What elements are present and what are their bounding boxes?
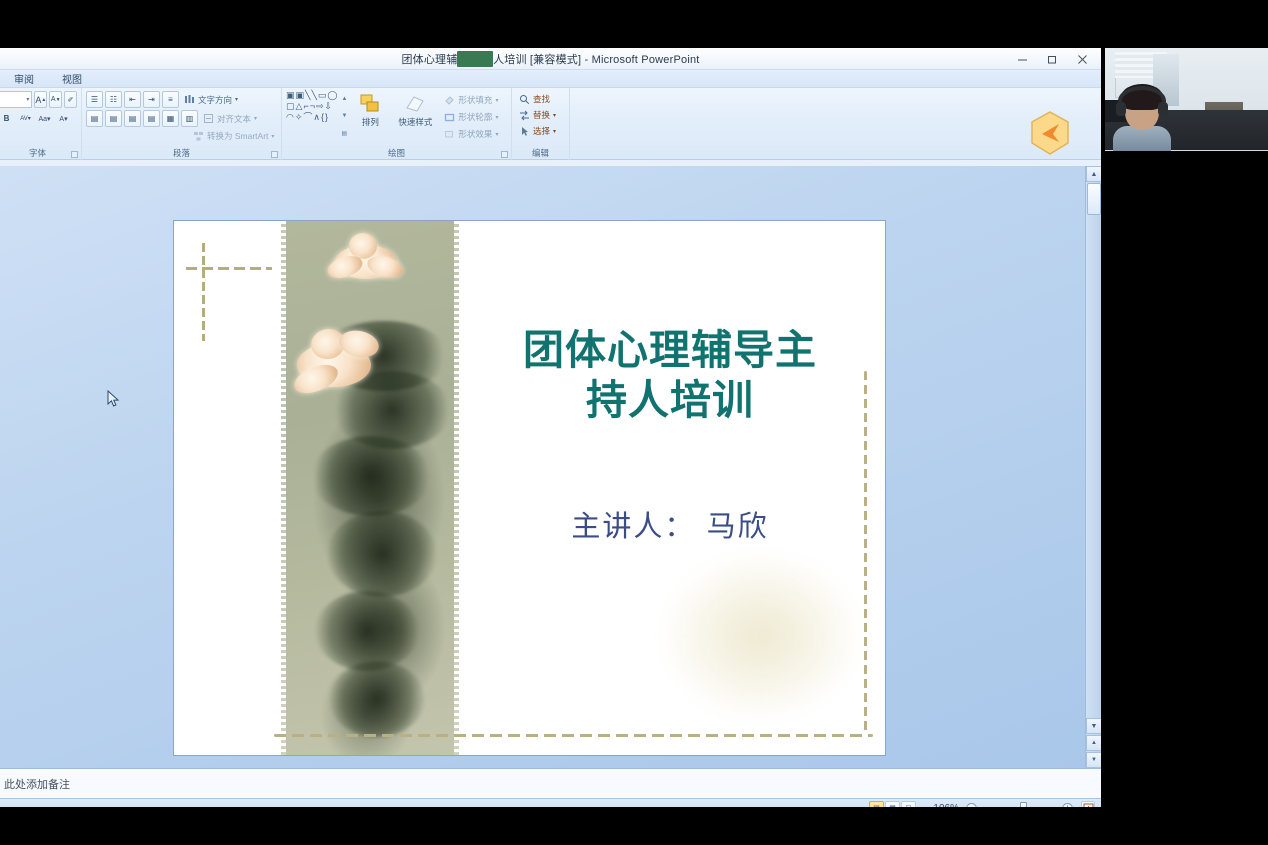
scroll-thumb[interactable]: [1087, 183, 1101, 215]
scroll-down-arrow[interactable]: ▼: [1086, 718, 1101, 734]
text-direction-button[interactable]: 文字方向▾: [181, 92, 241, 108]
background-watermark: [661, 551, 861, 721]
screen-root: 团体心理辅导主持人培训 [兼容模式] - Microsoft PowerPoin…: [0, 0, 1268, 845]
previous-slide-button[interactable]: ▲: [1086, 735, 1101, 751]
ribbon-group-editing: 查找 替换▾ 选择▾ 编辑: [512, 88, 570, 160]
shape-fill-button[interactable]: 形状填充▾: [441, 92, 501, 108]
webcam-headphone-right: [1158, 102, 1168, 116]
justify-button[interactable]: ▤: [143, 110, 160, 127]
arrange-icon: [359, 93, 381, 115]
find-icon: [519, 94, 530, 105]
shape-elbow2-icon[interactable]: ¬: [310, 102, 315, 111]
shape-outline-button[interactable]: 形状轮廓▾: [441, 109, 501, 125]
shape-outline-icon: [444, 112, 455, 123]
decoration-horizontal-border: [274, 734, 873, 737]
letterbox-bottom: [0, 807, 1268, 845]
mouse-cursor: [107, 390, 121, 408]
increase-font-size-button[interactable]: A▲: [34, 91, 47, 108]
notes-placeholder: 此处添加备注: [4, 779, 70, 791]
slide-title[interactable]: 团体心理辅导主 持人培训: [474, 325, 866, 425]
minimize-button[interactable]: [1007, 49, 1037, 69]
scroll-up-arrow[interactable]: ▲: [1086, 166, 1101, 182]
vertical-scrollbar[interactable]: ▲ ▼ ▲ ▼: [1085, 166, 1101, 768]
shape-arrow-right-icon[interactable]: ⇨: [316, 102, 324, 111]
slide-editing-canvas[interactable]: 团体心理辅导主 持人培训 主讲人： 马欣: [0, 166, 1101, 768]
convert-to-smartart-label: 转换为 SmartArt: [207, 130, 268, 142]
shape-brace-left-icon[interactable]: {: [321, 113, 324, 122]
align-left-button[interactable]: ▤: [86, 110, 103, 127]
next-slide-button[interactable]: ▼: [1086, 752, 1101, 768]
shape-cloud-icon[interactable]: ◠: [286, 113, 294, 122]
distribute-button[interactable]: ▦: [162, 110, 179, 127]
bold-button[interactable]: B: [0, 110, 15, 127]
decoration-vertical-border: [864, 371, 867, 733]
ribbon-group-drawing-label: 绘图: [282, 147, 511, 159]
ribbon-group-paragraph-label: 段落: [82, 147, 281, 159]
window-controls: [1007, 48, 1097, 70]
shape-brace-right-icon[interactable]: }: [325, 113, 328, 122]
powerpoint-window: 团体心理辅导主持人培训 [兼容模式] - Microsoft PowerPoin…: [0, 48, 1101, 807]
slide-subtitle[interactable]: 主讲人： 马欣: [474, 503, 866, 545]
right-side-black-area: [1101, 177, 1268, 807]
ribbon-tab-bar: 审阅 视图: [0, 70, 1101, 88]
ribbon-group-editing-label: 编辑: [512, 147, 569, 159]
find-button[interactable]: 查找: [516, 91, 565, 107]
replace-icon: [519, 110, 530, 121]
webcam-letterbox-bottom: [1101, 151, 1268, 177]
bullets-button[interactable]: ☰: [86, 91, 103, 108]
shape-rect-icon[interactable]: ▭: [318, 91, 327, 100]
change-case-button[interactable]: Aa▾: [36, 110, 53, 127]
slide-title-line1: 团体心理辅导主: [474, 325, 866, 375]
shape-arrow-icon[interactable]: ╲: [311, 91, 316, 100]
columns-button[interactable]: ▥: [181, 110, 198, 127]
shape-curve-icon[interactable]: ⌒: [303, 113, 312, 122]
shape-oval-icon[interactable]: ◯: [327, 91, 337, 100]
shapes-scroll-up[interactable]: ▲: [341, 96, 347, 102]
text-direction-icon: [184, 94, 195, 105]
shape-textbox2-icon[interactable]: ▣: [296, 91, 305, 100]
webcam-person: [1113, 86, 1171, 154]
webcam-letterbox-left: [1101, 48, 1105, 177]
arrange-label: 排列: [362, 116, 379, 128]
letterbox-top: [0, 0, 1268, 48]
shape-effects-icon: [444, 129, 455, 140]
ribbon-group-paragraph: ☰ ☷ ⇤ ⇥ ≡ 文字方向▾ ▤ ▤ ▤ ▤: [82, 88, 282, 160]
font-dialog-launcher[interactable]: [71, 151, 78, 158]
shape-effects-button[interactable]: 形状效果▾: [441, 126, 501, 142]
shape-line-icon[interactable]: ╲: [305, 91, 310, 100]
decoration-horizontal-stroke-top-left: [186, 267, 272, 270]
close-button[interactable]: [1067, 49, 1097, 69]
select-button[interactable]: 选择▾: [516, 123, 565, 139]
select-label: 选择: [533, 125, 550, 137]
drawing-dialog-launcher[interactable]: [501, 151, 508, 158]
shape-fill-icon: [444, 95, 455, 106]
tab-review[interactable]: 审阅: [8, 70, 40, 87]
quick-styles-icon: [404, 93, 426, 115]
text-direction-label: 文字方向: [198, 94, 232, 106]
title-prefix: 团体心理辅: [401, 54, 457, 66]
clear-formatting-button[interactable]: ✐: [64, 91, 77, 108]
align-right-button[interactable]: ▤: [124, 110, 141, 127]
increase-indent-button[interactable]: ⇥: [143, 91, 160, 108]
title-suffix: 人培训 [兼容模式] - Microsoft PowerPoint: [493, 54, 699, 66]
find-label: 查找: [533, 93, 550, 105]
ribbon-group-font: ▾ A▲ A▼ ✐ B AV▾ Aa▾ A▾ 字体: [0, 88, 82, 160]
smartart-icon: [193, 131, 204, 142]
annotation-tool-badge[interactable]: [1029, 110, 1071, 156]
tab-view[interactable]: 视图: [56, 70, 88, 87]
character-spacing-button[interactable]: AV▾: [17, 110, 34, 127]
font-color-button[interactable]: A▾: [55, 110, 72, 127]
title-bar: 团体心理辅导主持人培训 [兼容模式] - Microsoft PowerPoin…: [0, 48, 1101, 70]
align-text-icon: [203, 113, 214, 124]
arrange-button[interactable]: 排列: [351, 91, 389, 135]
decrease-font-size-button[interactable]: A▼: [49, 91, 62, 108]
shapes-more[interactable]: ▤: [341, 130, 347, 137]
shapes-scroll-down[interactable]: ▼: [341, 113, 347, 119]
align-center-button[interactable]: ▤: [105, 110, 122, 127]
ribbon: ▾ A▲ A▼ ✐ B AV▾ Aa▾ A▾ 字体 ☰ ☷: [0, 88, 1101, 160]
paragraph-dialog-launcher[interactable]: [271, 151, 278, 158]
quick-styles-label: 快速样式: [398, 116, 432, 128]
shape-square-icon[interactable]: ▢: [286, 102, 295, 111]
webcam-video-feed[interactable]: [1101, 48, 1268, 177]
shape-star-icon[interactable]: ✧: [295, 113, 303, 122]
numbering-button[interactable]: ☷: [105, 91, 122, 108]
replace-label: 替换: [533, 109, 550, 121]
status-bar: ▤ ▦ ▽ 106% − +: [0, 798, 1101, 807]
shape-elbow-icon[interactable]: ⌐: [303, 102, 308, 111]
slide-title-line2: 持人培训: [474, 375, 866, 425]
ribbon-group-font-label: 字体: [0, 147, 81, 159]
convert-to-smartart-button[interactable]: 转换为 SmartArt▾: [190, 128, 277, 144]
webcam-headphone-left: [1116, 102, 1126, 116]
restore-button[interactable]: [1037, 49, 1067, 69]
select-icon: [519, 126, 530, 137]
align-text-label: 对齐文本: [217, 113, 251, 125]
shape-chevron-icon[interactable]: ∧: [313, 113, 320, 122]
lotus-ink-painting: [281, 221, 459, 756]
decrease-indent-button[interactable]: ⇤: [124, 91, 141, 108]
shape-fill-label: 形状填充: [458, 94, 492, 106]
line-spacing-button[interactable]: ≡: [162, 91, 179, 108]
shape-triangle-icon[interactable]: △: [296, 102, 303, 111]
quick-styles-button[interactable]: 快速样式: [393, 91, 437, 135]
shape-outline-label: 形状轮廓: [458, 111, 492, 123]
replace-button[interactable]: 替换▾: [516, 107, 565, 123]
shape-textbox-icon[interactable]: ▣: [286, 91, 295, 100]
align-text-button[interactable]: 对齐文本▾: [200, 111, 260, 127]
shape-arrow-down-icon[interactable]: ⇩: [325, 102, 333, 111]
title-selection-highlight: 导主持: [457, 51, 493, 67]
window-title: 团体心理辅导主持人培训 [兼容模式] - Microsoft PowerPoin…: [0, 51, 1101, 67]
notes-pane[interactable]: 此处添加备注: [0, 768, 1101, 798]
shapes-gallery[interactable]: ▣ ▣ ╲ ╲ ▭ ◯ ▢ △ ⌐ ¬ ⇨: [286, 91, 337, 142]
decoration-vertical-stroke-top-left: [202, 243, 205, 341]
slide-surface[interactable]: 团体心理辅导主 持人培训 主讲人： 马欣: [173, 220, 886, 756]
ribbon-group-drawing: ▣ ▣ ╲ ╲ ▭ ◯ ▢ △ ⌐ ¬ ⇨: [282, 88, 512, 160]
font-size-combo[interactable]: ▾: [0, 91, 32, 108]
shape-effects-label: 形状效果: [458, 128, 492, 140]
